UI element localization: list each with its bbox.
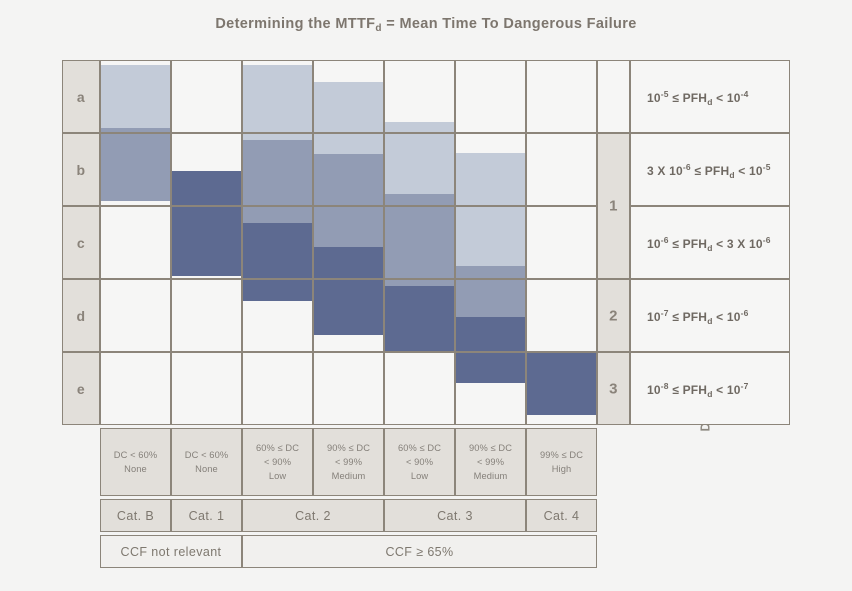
category-CatB: Cat. B — [100, 499, 171, 532]
dc-header-text: 60% ≤ DC< 90%Low — [386, 441, 453, 483]
cell-label: c — [63, 235, 99, 251]
matrix-cell-border-d2 — [171, 279, 242, 352]
pfh-range-text: 10-7 ≤ PFHd < 10-6 — [647, 308, 749, 324]
cell-label: Cat. 4 — [527, 509, 596, 523]
mttfd-matrix: abcde12310-5 ≤ PFHd < 10-43 X 10-6 ≤ PFH… — [62, 60, 790, 566]
matrix-cell-border-a3 — [242, 60, 313, 133]
dc-header-text: 90% ≤ DC< 99%Medium — [457, 441, 524, 483]
matrix-cell-border-d6 — [455, 279, 526, 352]
matrix-cell-border-d3 — [242, 279, 313, 352]
pl-row-label-b: b — [62, 133, 100, 206]
matrix-cell-border-e7 — [526, 352, 597, 425]
sil-level-none — [597, 60, 630, 133]
dc-header-text: 99% ≤ DCHigh — [528, 448, 595, 476]
dc-header-col2: DC < 60%None — [171, 428, 242, 496]
pfh-range-text: 3 X 10-6 ≤ PFHd < 10-5 — [647, 162, 771, 178]
matrix-cell-border-b1 — [100, 133, 171, 206]
matrix-cell-border-e3 — [242, 352, 313, 425]
matrix-cell-border-c7 — [526, 206, 597, 279]
cell-label: Cat. B — [101, 509, 170, 523]
sil-level-1: 1 — [597, 133, 630, 279]
pfh-range-text: 10-5 ≤ PFHd < 10-4 — [647, 89, 749, 105]
page-title: Determining the MTTFd = Mean Time To Dan… — [0, 16, 852, 32]
dc-header-text: DC < 60%None — [102, 448, 169, 476]
dc-header-col6: 90% ≤ DC< 99%Medium — [455, 428, 526, 496]
pl-row-label-d: d — [62, 279, 100, 352]
pfh-range-4: 10-7 ≤ PFHd < 10-6 — [630, 279, 790, 352]
category-Cat4: Cat. 4 — [526, 499, 597, 532]
cell-label: e — [63, 381, 99, 397]
matrix-cell-border-b7 — [526, 133, 597, 206]
matrix-cell-border-d1 — [100, 279, 171, 352]
matrix-cell-border-b6 — [455, 133, 526, 206]
title-suffix: = Mean Time To Dangerous Failure — [382, 16, 637, 32]
pfh-range-2: 3 X 10-6 ≤ PFHd < 10-5 — [630, 133, 790, 206]
matrix-cell-border-d4 — [313, 279, 384, 352]
matrix-cell-border-e5 — [384, 352, 455, 425]
dc-header-col7: 99% ≤ DCHigh — [526, 428, 597, 496]
matrix-cell-border-e2 — [171, 352, 242, 425]
category-Cat3: Cat. 3 — [384, 499, 526, 532]
matrix-cell-border-c6 — [455, 206, 526, 279]
pfh-range-5: 10-8 ≤ PFHd < 10-7 — [630, 352, 790, 425]
cell-label: CCF not relevant — [101, 545, 241, 559]
category-Cat1: Cat. 1 — [171, 499, 242, 532]
cell-label: Cat. 1 — [172, 509, 241, 523]
pl-row-label-c: c — [62, 206, 100, 279]
matrix-cell-border-a1 — [100, 60, 171, 133]
sil-level-3: 3 — [597, 352, 630, 425]
matrix-cell-border-e6 — [455, 352, 526, 425]
matrix-cell-border-a5 — [384, 60, 455, 133]
dc-header-text: DC < 60%None — [173, 448, 240, 476]
cell-label: b — [63, 162, 99, 178]
matrix-cell-border-b3 — [242, 133, 313, 206]
cell-label: a — [63, 89, 99, 105]
pfh-range-3: 10-6 ≤ PFHd < 3 X 10-6 — [630, 206, 790, 279]
dc-header-col1: DC < 60%None — [100, 428, 171, 496]
matrix-cell-border-a6 — [455, 60, 526, 133]
title-subscript: d — [375, 23, 381, 34]
ccf-group-2: CCF ≥ 65% — [242, 535, 597, 568]
cell-label: 3 — [598, 380, 629, 397]
cell-label: 2 — [598, 307, 629, 324]
dc-header-text: 60% ≤ DC< 90%Low — [244, 441, 311, 483]
matrix-cell-border-d7 — [526, 279, 597, 352]
cell-label: 1 — [598, 198, 629, 215]
matrix-cell-border-c2 — [171, 206, 242, 279]
dc-header-text: 90% ≤ DC< 99%Medium — [315, 441, 382, 483]
pfh-range-text: 10-6 ≤ PFHd < 3 X 10-6 — [647, 235, 771, 251]
matrix-cell-border-a2 — [171, 60, 242, 133]
matrix-cell-border-d5 — [384, 279, 455, 352]
cell-label: d — [63, 308, 99, 324]
cell-label: Cat. 3 — [385, 509, 525, 523]
matrix-cell-border-b2 — [171, 133, 242, 206]
dc-header-col5: 60% ≤ DC< 90%Low — [384, 428, 455, 496]
pfh-range-text: 10-8 ≤ PFHd < 10-7 — [647, 381, 749, 397]
matrix-cell-border-a4 — [313, 60, 384, 133]
matrix-cell-border-e4 — [313, 352, 384, 425]
pl-row-label-a: a — [62, 60, 100, 133]
cell-label: CCF ≥ 65% — [243, 545, 596, 559]
dc-header-col3: 60% ≤ DC< 90%Low — [242, 428, 313, 496]
dc-header-col4: 90% ≤ DC< 99%Medium — [313, 428, 384, 496]
title-prefix: Determining the MTTF — [215, 16, 375, 32]
matrix-cell-border-c4 — [313, 206, 384, 279]
pl-row-label-e: e — [62, 352, 100, 425]
matrix-cell-border-c5 — [384, 206, 455, 279]
matrix-cell-border-b5 — [384, 133, 455, 206]
matrix-cell-border-a7 — [526, 60, 597, 133]
pfh-range-1: 10-5 ≤ PFHd < 10-4 — [630, 60, 790, 133]
matrix-cell-border-b4 — [313, 133, 384, 206]
category-Cat2: Cat. 2 — [242, 499, 384, 532]
matrix-cell-border-c3 — [242, 206, 313, 279]
matrix-cell-border-c1 — [100, 206, 171, 279]
matrix-cell-border-e1 — [100, 352, 171, 425]
cell-label: Cat. 2 — [243, 509, 383, 523]
sil-level-2: 2 — [597, 279, 630, 352]
ccf-group-1: CCF not relevant — [100, 535, 242, 568]
